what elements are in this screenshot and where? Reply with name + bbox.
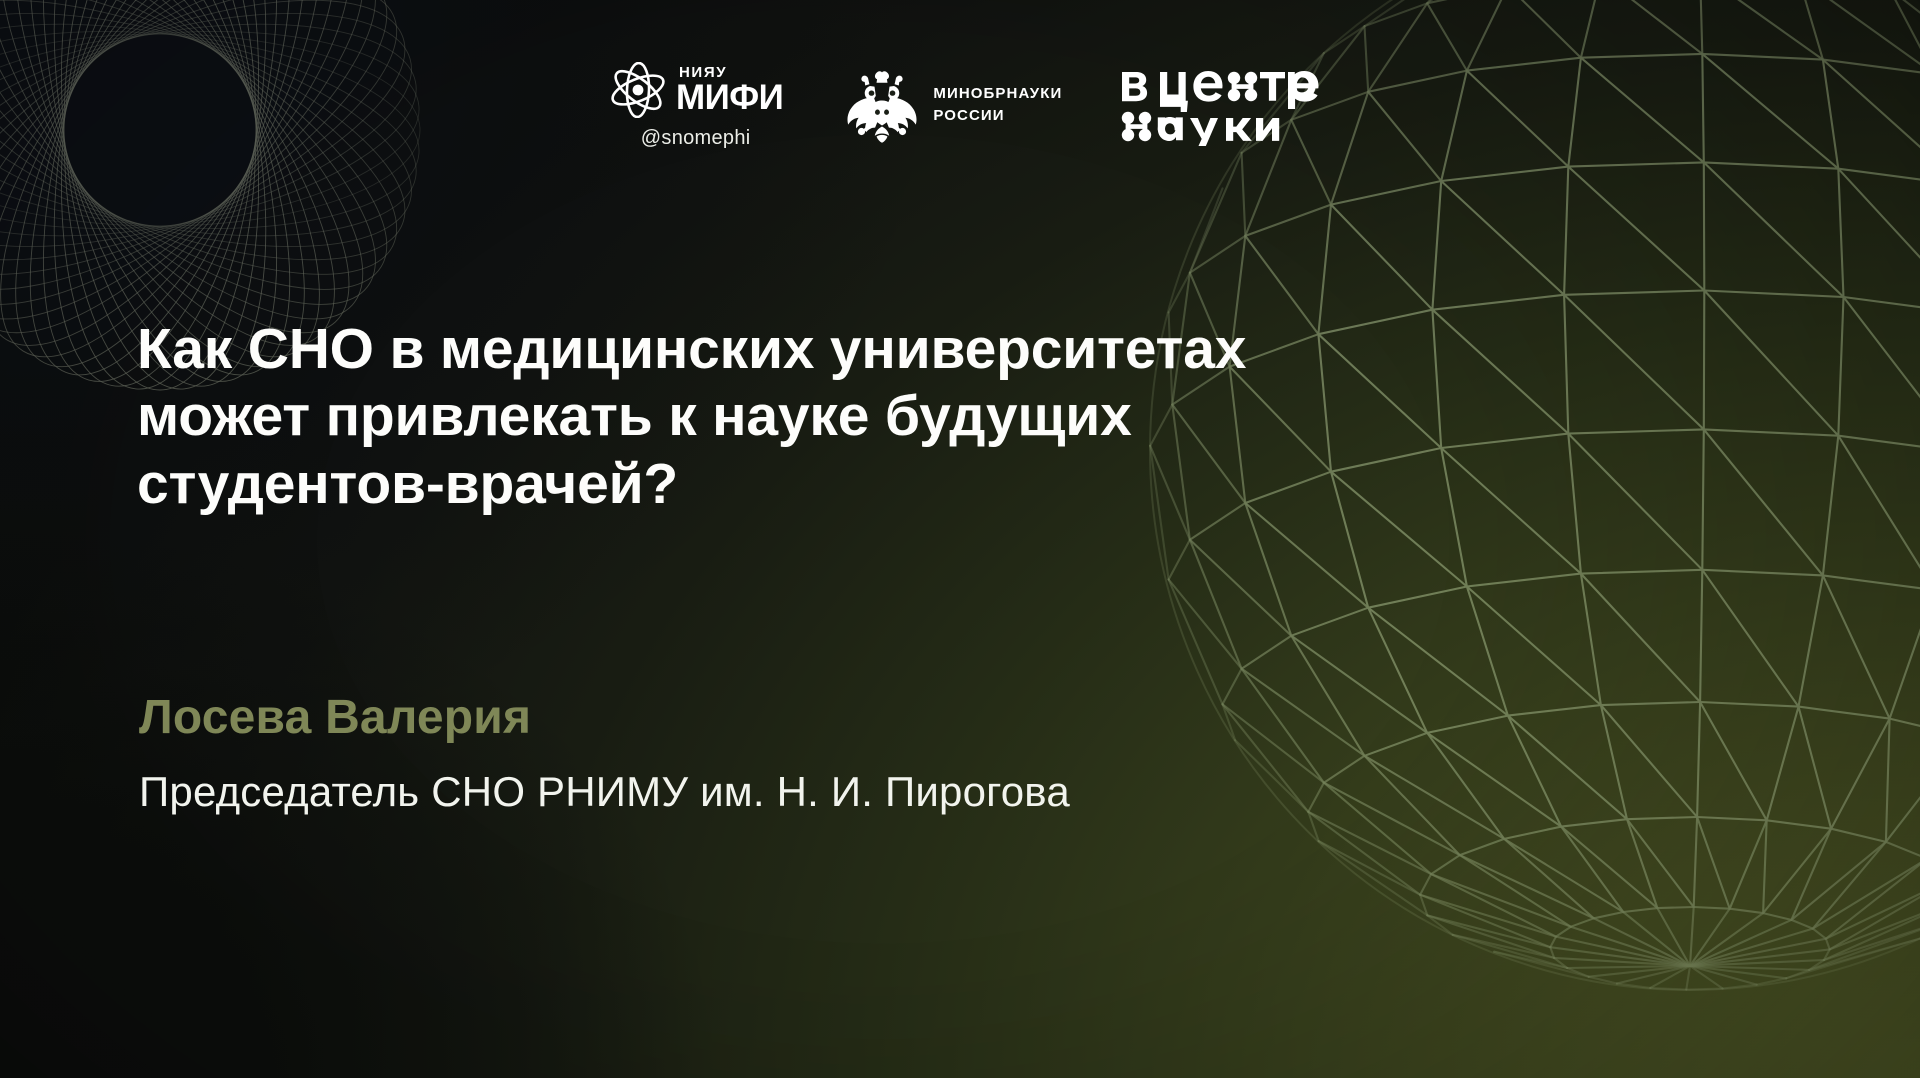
background-noise-texture <box>0 0 1920 1078</box>
logo-v-centre-nauki <box>1120 68 1332 146</box>
atom-icon <box>608 62 668 118</box>
logo-minobrnauki-line2: РОССИИ <box>933 105 1062 127</box>
presentation-slide: НИЯУ МИФИ @snomephi <box>0 0 1920 1078</box>
speaker-role: Председатель СНО РНИМУ им. Н. И. Пирогов… <box>139 768 1070 816</box>
logo-mephi: НИЯУ МИФИ @snomephi <box>608 62 783 150</box>
slide-title: Как СНО в медицинских университетах може… <box>137 316 1437 518</box>
double-headed-eagle-icon <box>843 65 921 145</box>
speaker-name: Лосева Валерия <box>139 690 531 745</box>
logo-mephi-name: МИФИ <box>676 81 783 114</box>
logo-mephi-handle: @snomephi <box>641 127 751 150</box>
logo-mephi-row: НИЯУ МИФИ <box>608 62 783 118</box>
logo-minobrnauki-line1: МИНОБРНАУКИ <box>933 83 1062 105</box>
logo-minobrnauki-wordmark: МИНОБРНАУКИ РОССИИ <box>933 83 1062 127</box>
logo-minobrnauki: МИНОБРНАУКИ РОССИИ <box>843 65 1062 145</box>
logo-bar: НИЯУ МИФИ @snomephi <box>608 62 1332 150</box>
logo-mephi-wordmark: НИЯУ МИФИ <box>676 65 783 114</box>
v-centre-nauki-wordmark <box>1120 68 1332 146</box>
